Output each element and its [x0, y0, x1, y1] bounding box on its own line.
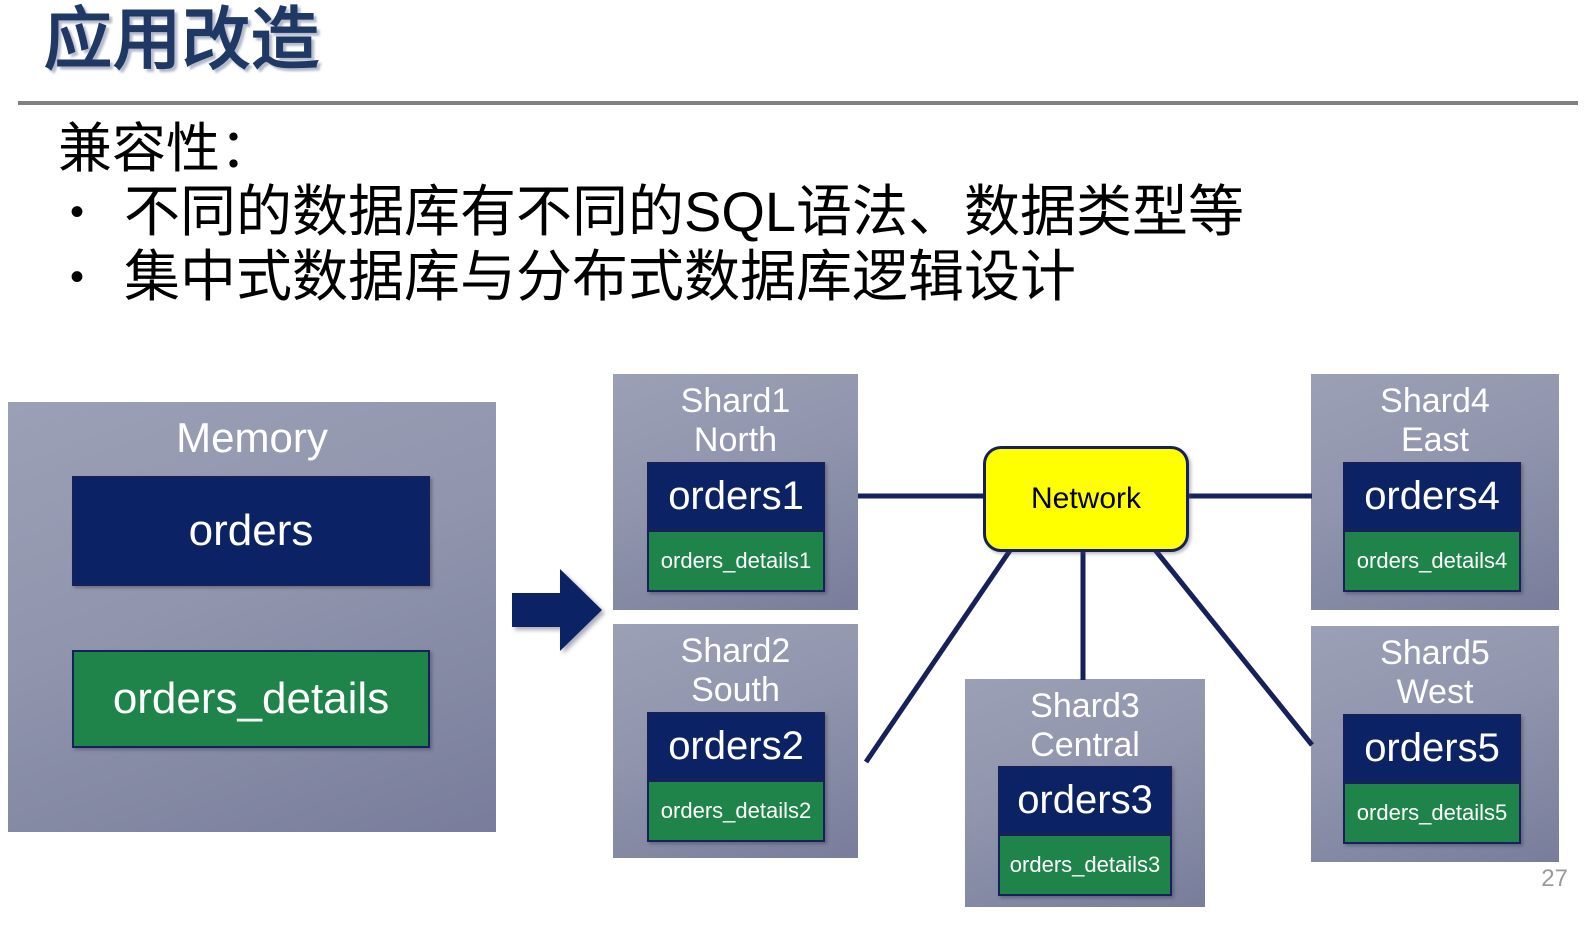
shard4-table-orders-details4: orders_details4	[1343, 530, 1521, 592]
shard1-table-orders1: orders1	[647, 462, 825, 530]
bullet-item-1: • 不同的数据库有不同的SQL语法、数据类型等	[58, 180, 1458, 245]
bullet-text-1: 不同的数据库有不同的SQL语法、数据类型等	[124, 180, 1458, 245]
shard3-table-orders3: orders3	[998, 766, 1172, 834]
shard5-table-orders-details5: orders_details5	[1343, 782, 1521, 844]
memory-panel: Memory	[8, 402, 496, 832]
shard2-table-orders2: orders2	[647, 712, 825, 780]
bullet-text-2: 集中式数据库与分布式数据库逻辑设计	[124, 245, 1458, 310]
bullet-dot-icon: •	[58, 180, 124, 244]
shard4-table-orders4: orders4	[1343, 462, 1521, 530]
memory-panel-label: Memory	[8, 414, 496, 462]
shard2-table-orders-details2: orders_details2	[647, 780, 825, 842]
right-block-arrow-icon	[512, 567, 602, 653]
lead-line: 兼容性：	[58, 118, 1458, 180]
bullet-item-2: • 集中式数据库与分布式数据库逻辑设计	[58, 245, 1458, 310]
shard3-table-orders-details3: orders_details3	[998, 834, 1172, 896]
shard-title-shard1: Shard1 North	[613, 374, 858, 461]
shard-title-shard5: Shard5 West	[1311, 626, 1559, 713]
body-text-block: 兼容性： • 不同的数据库有不同的SQL语法、数据类型等 • 集中式数据库与分布…	[58, 118, 1458, 310]
title-divider	[18, 101, 1578, 105]
shard5-table-orders5: orders5	[1343, 714, 1521, 782]
page-title: 应用改造	[44, 2, 320, 78]
page-number: 27	[1541, 865, 1568, 893]
shard-title-shard3: Shard3 Central	[965, 679, 1205, 766]
memory-table-orders: orders	[72, 476, 430, 586]
slide-canvas: 应用改造 兼容性： • 不同的数据库有不同的SQL语法、数据类型等 • 集中式数…	[0, 0, 1594, 939]
shard-title-shard4: Shard4 East	[1311, 374, 1559, 461]
memory-table-orders-details: orders_details	[72, 650, 430, 748]
shard-title-shard2: Shard2 South	[613, 624, 858, 711]
shard1-table-orders-details1: orders_details1	[647, 530, 825, 592]
bullet-dot-icon: •	[58, 245, 124, 309]
network-node: Network	[983, 446, 1189, 552]
